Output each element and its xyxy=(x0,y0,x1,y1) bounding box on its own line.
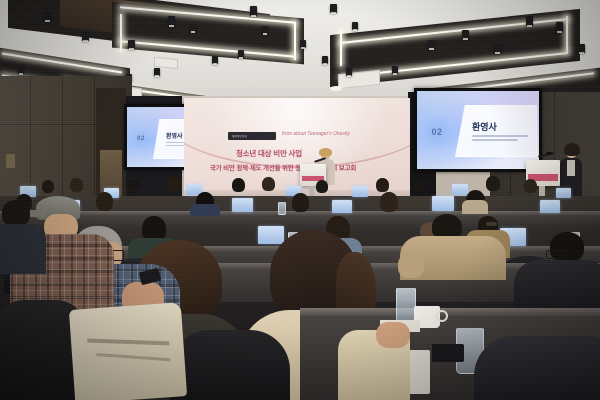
microphone-head xyxy=(546,152,553,155)
light-frame-left xyxy=(120,14,122,52)
track-spotlight xyxy=(18,66,24,74)
track-spotlight xyxy=(250,6,257,16)
conference-hall-photo: 02 환영사 대한비만학회 from about Teenager's Obes… xyxy=(0,0,600,400)
cup-handle xyxy=(436,310,448,322)
audience-head xyxy=(70,178,83,192)
track-spotlight xyxy=(154,68,160,76)
track-spotlight xyxy=(44,12,51,21)
audience-head xyxy=(524,179,537,193)
right-screen-bezel: 02 환영사 xyxy=(414,88,542,172)
audience-left-edge xyxy=(0,200,46,270)
track-spotlight xyxy=(190,24,196,32)
banner-badge: 대한비만학회 xyxy=(228,132,276,140)
chair xyxy=(170,330,290,400)
audience-head xyxy=(414,180,426,193)
track-spotlight xyxy=(494,44,501,53)
banner-badge-text: 대한비만학회 xyxy=(232,134,247,138)
table-foreground-top xyxy=(300,308,600,316)
coat-fold xyxy=(96,353,170,361)
track-spotlight xyxy=(128,40,135,49)
track-spotlight xyxy=(330,4,337,13)
audience-head xyxy=(376,178,389,192)
track-spotlight xyxy=(556,22,563,32)
audience-head xyxy=(292,193,309,212)
laptop xyxy=(232,198,253,212)
track-spotlight xyxy=(346,68,352,76)
body xyxy=(0,224,46,274)
recessed-downlight xyxy=(330,86,342,91)
audience-shoulders-navy xyxy=(190,204,220,216)
left-slide-title: 환영사 xyxy=(166,131,183,140)
right-slide-number: 02 xyxy=(425,117,449,147)
track-spotlight xyxy=(578,44,585,53)
track-spotlight xyxy=(238,50,244,58)
beige-coat-on-chair xyxy=(69,302,187,400)
speaker-hair xyxy=(319,148,332,156)
laptop xyxy=(332,200,352,213)
coat-fold xyxy=(87,339,169,346)
left-slide-number: 02 xyxy=(133,129,149,149)
mc-hair xyxy=(564,143,580,156)
right-slide-subtitle-line xyxy=(472,135,528,137)
smartphone xyxy=(432,344,464,362)
audience-shoulders-tan xyxy=(462,200,488,214)
track-spotlight xyxy=(322,56,328,64)
light-frame-right xyxy=(294,22,296,60)
track-spotlight xyxy=(526,16,533,26)
audience-head xyxy=(128,180,140,193)
track-spotlight xyxy=(262,26,268,34)
glasses xyxy=(546,250,564,259)
light-frame-left-right xyxy=(340,30,342,66)
light-frame-right-right xyxy=(566,16,568,52)
audience-head xyxy=(232,178,245,192)
audience-head xyxy=(42,180,54,193)
water-glass xyxy=(396,288,416,322)
man-dark-suit-shoulder xyxy=(474,336,600,400)
man-dark-suit xyxy=(500,226,600,316)
track-spotlight xyxy=(168,16,175,26)
right-projection-screen: 02 환영사 xyxy=(417,91,539,169)
mc-shirt xyxy=(567,160,575,176)
track-spotlight xyxy=(212,56,218,64)
track-spotlight xyxy=(352,22,358,30)
track-spotlight xyxy=(300,40,306,48)
ceiling-air-vent xyxy=(338,70,380,89)
laptop xyxy=(540,200,560,213)
hand xyxy=(376,322,410,348)
water-glass xyxy=(278,202,286,215)
audience-head xyxy=(168,176,182,191)
audience-head xyxy=(316,180,328,193)
track-spotlight xyxy=(392,66,398,74)
track-spotlight xyxy=(82,32,89,41)
audience-head xyxy=(486,176,500,191)
wall-sign xyxy=(6,154,15,168)
track-spotlight xyxy=(462,30,469,39)
audience-head xyxy=(380,192,398,212)
right-slide-title: 환영사 xyxy=(472,120,497,133)
laptop xyxy=(432,196,454,211)
right-slide-subtitle-line xyxy=(472,139,518,141)
audience-head xyxy=(262,177,275,191)
banner-title-line-1: 청소년 대상 비만 사업 xyxy=(236,148,302,159)
track-spotlight xyxy=(428,40,435,49)
head xyxy=(2,200,30,226)
banner-script-line: from about Teenager's Obesity xyxy=(282,131,350,137)
